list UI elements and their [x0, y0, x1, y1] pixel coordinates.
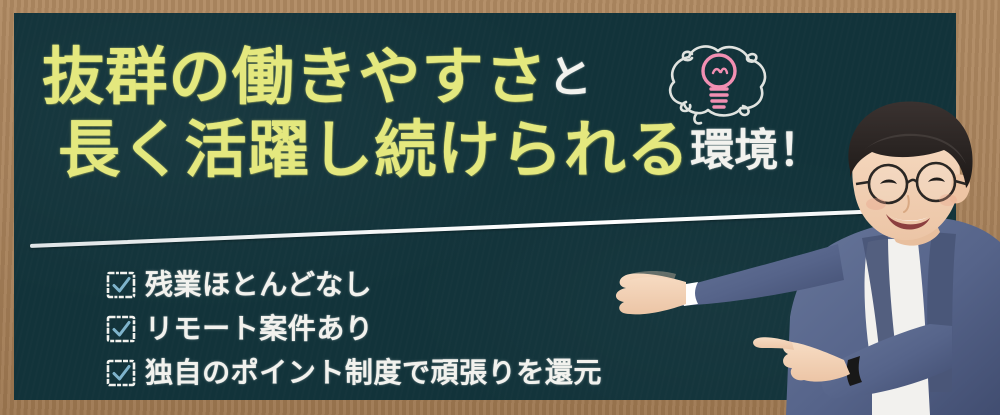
headline-line-1-suffix: と: [548, 52, 592, 103]
checklist-item-3: 独自のポイント制度で頑張りを還元: [106, 351, 602, 395]
headline-line-1-main: 抜群の働きやすさ: [42, 40, 548, 113]
checklist-item-2-label: リモート案件あり: [145, 315, 373, 343]
checklist-item-2: リモート案件あり: [106, 307, 602, 351]
checkbox-checked-icon: [106, 315, 136, 343]
left-hand: [616, 271, 686, 314]
checkbox-checked-icon: [106, 271, 136, 299]
recruit-banner: 抜群の働きやすさと 長く活躍し続けられる環境！: [0, 0, 1000, 415]
headline-line-2-main: 長く活躍し続けられる: [58, 113, 690, 186]
checklist-item-1: 残業ほとんどなし: [106, 263, 602, 307]
checklist-item-3-label: 独自のポイント制度で頑張りを還元: [145, 359, 602, 387]
checklist-item-1-label: 残業ほとんどなし: [145, 271, 372, 299]
presenter-photo: [600, 92, 1000, 415]
checkbox-checked-icon: [106, 359, 136, 387]
checklist: 残業ほとんどなし リモート案件あり 独自のポ: [106, 263, 602, 395]
